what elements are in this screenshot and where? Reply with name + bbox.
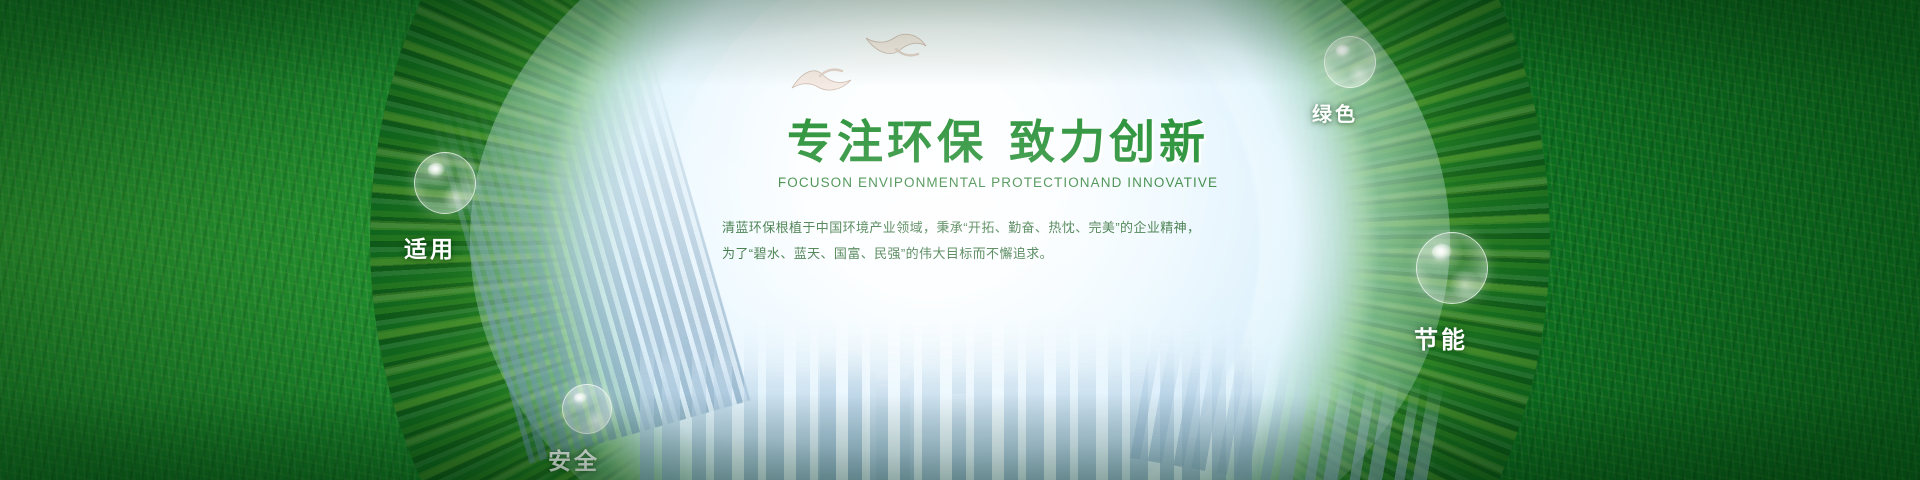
headline-part2: 致力创新 [1009,116,1209,168]
page-title: 专注环保致力创新 [718,118,1278,166]
description: 清蓝环保根植于中国环境产业领域，秉承“开拓、勤奋、热忱、完美”的企业精神， 为了… [718,215,1278,267]
headline-part1: 专注环保 [787,116,987,168]
bubble-icon [414,152,476,214]
bubble-lvse[interactable]: 绿色 [1312,36,1462,156]
bubble-label: 节能 [1414,320,1468,355]
birds-group [790,28,960,108]
hero-banner: 适用 绿色 节能 安全 专注环保致力创新 FOCUSON ENVIPONMENT… [0,0,1920,480]
tower-icon [820,340,866,480]
bubble-shiyong[interactable]: 适用 [404,152,554,282]
bird-icon [862,28,928,64]
bubble-anquan[interactable]: 安全 [548,384,698,480]
tower-icon [876,372,910,480]
tower-icon [940,394,968,480]
bubble-icon [1416,232,1488,304]
hero-copy: 专注环保致力创新 FOCUSON ENVIPONMENTAL PROTECTIO… [718,118,1278,267]
bubble-label: 安全 [548,442,600,476]
subtitle: FOCUSON ENVIPONMENTAL PROTECTIONAND INNO… [718,175,1278,190]
bubble-icon [1324,36,1376,88]
bird-icon [790,62,854,96]
description-line-1: 清蓝环保根植于中国环境产业领域，秉承“开拓、勤奋、热忱、完美”的企业精神， [722,215,1278,241]
bubble-label: 适用 [404,230,456,264]
description-line-2: 为了“碧水、蓝天、国富、民强”的伟大目标而不懈追求。 [722,241,1278,267]
bubble-jieneng[interactable]: 节能 [1400,232,1560,372]
bubble-label: 绿色 [1312,98,1358,127]
bubble-icon [562,384,612,434]
